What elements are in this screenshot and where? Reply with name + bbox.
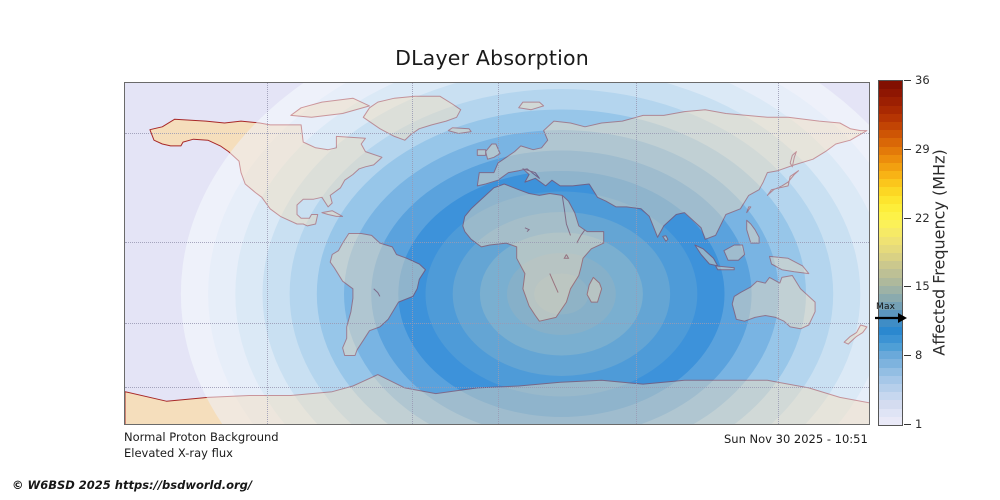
colorbar-segment [879, 253, 902, 261]
colorbar-segment [879, 81, 902, 89]
colorbar-segment [879, 376, 902, 384]
colorbar-segment [879, 368, 902, 376]
colorbar-segment [879, 196, 902, 204]
colorbar-segment [879, 392, 902, 400]
timestamp: Sun Nov 30 2025 - 10:51 [724, 432, 868, 446]
colorbar-segment [879, 351, 902, 359]
gridline-parallel [125, 387, 870, 388]
colorbar-segment [879, 384, 902, 392]
colorbar-segment [879, 359, 902, 367]
absorption-contours-overlay [181, 83, 870, 425]
page-title: DLayer Absorption [0, 46, 1000, 70]
colorbar-tick-label: 1 [915, 417, 922, 431]
colorbar-segment [879, 106, 902, 114]
colorbar-segment [879, 286, 902, 294]
arrow-right-icon [874, 312, 908, 326]
colorbar-segment [879, 269, 902, 277]
figure-root: DLayer Absorption 1815222936 Max Affecte… [0, 0, 1000, 500]
colorbar-segment [879, 261, 902, 269]
colorbar-segment [879, 97, 902, 105]
colorbar-axis-label-text: Affected Frequency (MHz) [930, 149, 949, 355]
colorbar-segment [879, 417, 902, 425]
colorbar-segment [879, 294, 902, 302]
colorbar-tick [904, 424, 911, 425]
colorbar-segment [879, 220, 902, 228]
colorbar-segment [879, 171, 902, 179]
gridline-parallel [125, 133, 870, 134]
gridline-meridian [267, 83, 268, 425]
colorbar-segment [879, 163, 902, 171]
colorbar-segment [879, 187, 902, 195]
colorbar-tick-label: 8 [915, 348, 922, 362]
colorbar-tick-label: 29 [915, 142, 930, 156]
colorbar-segment [879, 130, 902, 138]
colorbar-tick [904, 355, 911, 356]
colorbar-max-marker: Max [874, 303, 914, 329]
colorbar-segment [879, 114, 902, 122]
colorbar-segment [879, 147, 902, 155]
colorbar-segment [879, 179, 902, 187]
colorbar-max-label: Max [876, 302, 895, 312]
copyright-notice: © W6BSD 2025 https://bsdworld.org/ [12, 478, 252, 492]
colorbar-segment [879, 138, 902, 146]
colorbar-tick-label: 36 [915, 73, 930, 87]
colorbar-segment [879, 89, 902, 97]
colorbar-segment [879, 155, 902, 163]
gridline-parallel [125, 323, 870, 324]
colorbar-segment [879, 278, 902, 286]
colorbar-segment [879, 245, 902, 253]
world-map-axes[interactable] [124, 82, 870, 425]
gridline-meridian [636, 83, 637, 425]
colorbar-tick [904, 218, 911, 219]
colorbar-segment [879, 122, 902, 130]
colorbar-axis-label: Affected Frequency (MHz) [929, 80, 949, 424]
colorbar-segment [879, 400, 902, 408]
colorbar-segment [879, 212, 902, 220]
note-proton-background: Normal Proton Background [124, 430, 279, 444]
colorbar-segment [879, 335, 902, 343]
colorbar-segment [879, 204, 902, 212]
colorbar-segment [879, 237, 902, 245]
gridline-meridian [778, 83, 779, 425]
gridline-meridian [412, 83, 413, 425]
page-title-text: DLayer Absorption [395, 46, 589, 70]
colorbar-tick [904, 286, 911, 287]
colorbar-segment [879, 409, 902, 417]
colorbar-tick [904, 149, 911, 150]
colorbar[interactable] [878, 80, 903, 426]
colorbar-segment [879, 228, 902, 236]
note-xray-flux: Elevated X-ray flux [124, 446, 233, 460]
colorbar-tick-label: 22 [915, 211, 930, 225]
gridline-parallel [125, 242, 870, 243]
colorbar-segment [879, 343, 902, 351]
colorbar-tick-label: 15 [915, 279, 930, 293]
absorption-band-overlay [534, 273, 588, 314]
colorbar-tick [904, 80, 911, 81]
gridline-meridian [498, 83, 499, 425]
